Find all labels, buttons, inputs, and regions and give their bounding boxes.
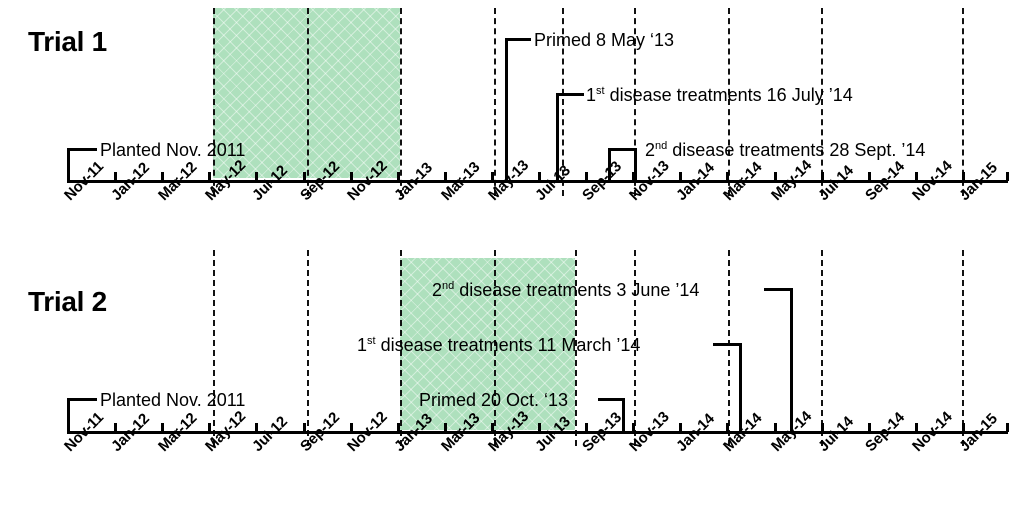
guide2-jul-14 [821,250,823,446]
trial-2-disease2-ordinal-number: 2 [432,280,442,300]
axis-tick [962,172,965,181]
trial-1-disease1-text: disease treatments 16 July ’14 [610,85,853,105]
axis-tick [161,172,164,181]
axis-tick [397,172,400,181]
trial-1-primed-leader-horizontal [505,38,531,41]
guide2-sep-12 [307,250,309,446]
trial-2-disease1-label: 1st disease treatments 11 March ’14 [357,336,640,354]
trial-1-disease1-leader-horizontal [556,93,584,96]
trial-2-primed-leader-horizontal [598,398,625,401]
trial-2-disease2-text: disease treatments 3 June ’14 [459,280,699,300]
trial-1-disease2-leader-horizontal [608,148,637,151]
trial-2-disease2-leader-horizontal [764,288,793,291]
guide-sep-12 [307,8,309,196]
guide-jan-15 [962,8,964,196]
axis-tick [350,423,353,432]
trial-2-disease1-text: disease treatments 11 March ’14 [381,335,641,355]
axis-tick [632,423,635,432]
trial-1-disease1-ordinal-suffix: st [596,85,605,97]
guide2-may-12 [213,250,215,446]
trial-1-disease2-label: 2nd disease treatments 28 Sept. ’14 [645,141,925,159]
axis-tick [726,172,729,181]
axis-tick [538,423,541,432]
guide-may-13 [494,8,496,196]
trial-2-disease1-leader-horizontal [713,343,742,346]
trial-1-planted-label: Planted Nov. 2011 [100,141,245,159]
axis-tick [915,423,918,432]
axis-tick-label: Jul-12 [249,413,291,455]
trial-2-disease1-ordinal-suffix: st [367,335,376,347]
axis-tick [444,423,447,432]
trial-2-disease1-leader-vertical [739,343,742,432]
trial-2-disease2-label: 2nd disease treatments 3 June ’14 [432,281,699,299]
axis-tick [255,172,258,181]
trial-1-panel: Trial 1 Planted Nov. 2011 Primed 8 May ‘… [0,0,1024,250]
axis-tick [774,423,777,432]
trial-2-primed-label: Primed 20 Oct. ‘13 [419,391,568,409]
axis-tick [821,423,824,432]
trial-1-title: Trial 1 [28,28,107,56]
axis-tick [208,172,211,181]
trial-2-primed-leader-vertical [622,398,625,432]
trial-2-planted-label: Planted Nov. 2011 [100,391,245,409]
axis-tick [161,423,164,432]
trial-2-panel: Trial 2 Planted Nov. 2011 Primed 20 Oct.… [0,250,1024,507]
axis-tick [303,423,306,432]
axis-tick [679,423,682,432]
guide-jan-13 [400,8,402,196]
trial-2-disease2-ordinal-suffix: nd [442,280,454,292]
axis-tick [114,423,117,432]
guide-may-12 [213,8,215,196]
trial-1-disease2-ordinal-number: 2 [645,140,655,160]
trial-2-axis-end-cap [1006,423,1009,432]
guide2-mar-14 [728,250,730,446]
axis-tick [255,423,258,432]
axis-tick [962,423,965,432]
axis-tick [821,172,824,181]
axis-tick [67,423,70,432]
trial-1-disease1-label: 1st disease treatments 16 July ’14 [586,86,853,104]
trial-1-primed-label: Primed 8 May ‘13 [534,31,674,49]
axis-tick [397,423,400,432]
axis-tick [632,172,635,181]
axis-tick [585,423,588,432]
axis-tick-label: Jul-13 [532,162,574,204]
trial-1-disease1-ordinal-number: 1 [586,85,596,105]
trial-1-disease2-text: disease treatments 28 Sept. ’14 [672,140,925,160]
axis-tick [774,172,777,181]
axis-tick [868,172,871,181]
trial-2-title: Trial 2 [28,288,107,316]
axis-tick [491,172,494,181]
axis-tick [679,172,682,181]
trial-1-axis-end-cap [1006,172,1009,181]
trial-1-disease2-ordinal-suffix: nd [655,140,667,152]
trial-2-disease2-leader-vertical [790,288,793,432]
axis-tick [67,172,70,181]
trial-1-planted-leader-horizontal [67,148,97,151]
trial-1-primed-leader-vertical [505,38,508,181]
trial-2-planted-leader-horizontal [67,398,97,401]
axis-tick [585,172,588,181]
axis-tick [114,172,117,181]
axis-tick [350,172,353,181]
axis-tick [868,423,871,432]
axis-tick [208,423,211,432]
axis-tick [538,172,541,181]
axis-tick [444,172,447,181]
axis-tick [491,423,494,432]
axis-tick [915,172,918,181]
trial-2-disease1-ordinal-number: 1 [357,335,367,355]
axis-tick [303,172,306,181]
guide2-jan-15 [962,250,964,446]
axis-tick [726,423,729,432]
figure-root: Trial 1 Planted Nov. 2011 Primed 8 May ‘… [0,0,1024,507]
